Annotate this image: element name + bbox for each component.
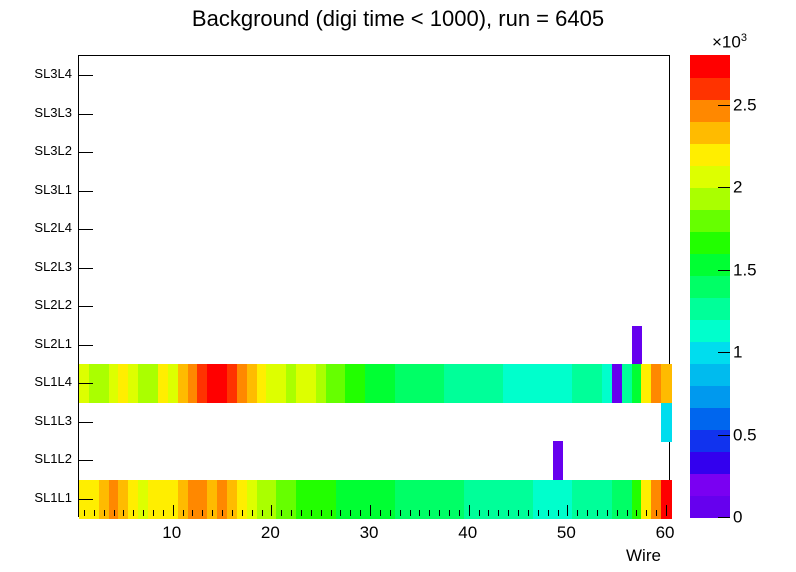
x-axis-minor-tick: [301, 510, 302, 516]
x-axis-major-tick: [469, 505, 470, 516]
x-axis-title: Wire: [626, 546, 661, 566]
x-axis-minor-tick: [488, 510, 489, 516]
y-axis-label-sl1l2: SL1L2: [4, 452, 72, 465]
palette-tick-label: 1: [733, 344, 742, 361]
y-axis-label-sl2l1: SL2L1: [4, 337, 72, 350]
heatmap-cell: [247, 364, 257, 403]
x-axis-major-tick: [370, 505, 371, 516]
color-palette-bar: [690, 55, 730, 517]
x-axis-minor-tick: [528, 510, 529, 516]
heatmap-cell: [158, 364, 168, 403]
x-axis-minor-tick: [104, 510, 105, 516]
y-axis-label-sl2l4: SL2L4: [4, 221, 72, 234]
x-axis-minor-tick: [212, 510, 213, 516]
y-axis-label-sl2l2: SL2L2: [4, 298, 72, 311]
y-axis-tick: [79, 345, 93, 346]
x-axis-minor-tick: [143, 510, 144, 516]
heatmap-cell: [622, 364, 632, 403]
heatmap-cell: [562, 364, 572, 403]
x-axis-minor-tick: [252, 510, 253, 516]
heatmap-cell: [326, 364, 336, 403]
palette-exponent-power: 3: [741, 32, 747, 44]
palette-tick-label: 0.5: [733, 426, 757, 443]
y-axis-label-sl3l1: SL3L1: [4, 183, 72, 196]
heatmap-cell: [641, 364, 651, 403]
x-axis-minor-tick: [94, 510, 95, 516]
heatmap-cells: [79, 56, 669, 516]
x-axis-minor-tick: [123, 510, 124, 516]
x-axis-major-tick: [271, 505, 272, 516]
heatmap-cell: [493, 364, 503, 403]
palette-band: [690, 495, 730, 518]
heatmap-cell: [197, 364, 207, 403]
palette-band: [690, 297, 730, 320]
heatmap-cell: [474, 364, 484, 403]
x-axis-minor-tick: [400, 510, 401, 516]
y-axis-tick: [79, 229, 93, 230]
y-axis-label-sl2l3: SL2L3: [4, 260, 72, 273]
palette-band: [690, 55, 730, 78]
x-axis-minor-tick: [192, 510, 193, 516]
x-axis-minor-tick: [242, 510, 243, 516]
heatmap-cell: [345, 364, 355, 403]
x-axis-minor-tick: [202, 510, 203, 516]
x-axis-minor-tick: [380, 510, 381, 516]
heatmap-cell: [582, 364, 592, 403]
y-axis-tick: [79, 152, 93, 153]
x-axis-minor-tick: [518, 510, 519, 516]
palette-band: [690, 143, 730, 166]
x-axis-minor-tick: [548, 510, 549, 516]
x-axis-minor-tick: [429, 510, 430, 516]
x-axis-minor-tick: [587, 510, 588, 516]
y-axis-label-sl1l1: SL1L1: [4, 491, 72, 504]
palette-tick-label: 2: [733, 179, 742, 196]
x-axis-tick-label: 40: [458, 524, 477, 541]
x-axis-minor-tick: [646, 510, 647, 516]
heatmap-cell: [217, 364, 227, 403]
palette-band: [690, 363, 730, 386]
plot-title: Background (digi time < 1000), run = 640…: [0, 6, 796, 32]
y-axis-tick: [79, 114, 93, 115]
x-axis-minor-tick: [627, 510, 628, 516]
heatmap-cell: [553, 441, 563, 480]
heatmap-cell: [395, 364, 405, 403]
palette-tick-label: 1.5: [733, 261, 757, 278]
x-axis-minor-tick: [410, 510, 411, 516]
palette-band: [690, 253, 730, 276]
x-axis-minor-tick: [558, 510, 559, 516]
palette-tick-label: 0: [733, 509, 742, 526]
palette-band: [690, 275, 730, 298]
x-axis-minor-tick: [508, 510, 509, 516]
y-axis-label-sl1l4: SL1L4: [4, 375, 72, 388]
palette-band: [690, 165, 730, 188]
x-axis-tick-label: 20: [261, 524, 280, 541]
y-axis-tick: [79, 460, 93, 461]
heatmap-cell: [138, 364, 148, 403]
heatmap-cell: [602, 364, 612, 403]
x-axis-minor-tick: [636, 510, 637, 516]
y-axis-label-sl1l3: SL1L3: [4, 414, 72, 427]
x-axis-minor-tick: [133, 510, 134, 516]
heatmap-cell: [632, 326, 642, 365]
palette-band: [690, 407, 730, 430]
heatmap-cell: [661, 364, 671, 403]
palette-exponent: ×103: [712, 32, 747, 53]
heatmap-cell: [286, 364, 296, 403]
y-axis-label-sl3l4: SL3L4: [4, 67, 72, 80]
x-axis-minor-tick: [656, 510, 657, 516]
x-axis-minor-tick: [84, 510, 85, 516]
palette-band: [690, 319, 730, 342]
palette-band: [690, 121, 730, 144]
x-axis-minor-tick: [222, 510, 223, 516]
heatmap-cell: [118, 364, 128, 403]
heatmap-cell: [178, 364, 188, 403]
x-axis-minor-tick: [232, 510, 233, 516]
x-axis-minor-tick: [439, 510, 440, 516]
x-axis-major-tick: [666, 505, 667, 516]
y-axis-tick: [79, 191, 93, 192]
x-axis-minor-tick: [311, 510, 312, 516]
x-axis-minor-tick: [163, 510, 164, 516]
x-axis-tick-label: 30: [360, 524, 379, 541]
palette-band: [690, 429, 730, 452]
x-axis-minor-tick: [360, 510, 361, 516]
palette-tick: [718, 187, 730, 188]
heatmap-cell: [306, 364, 316, 403]
palette-band: [690, 473, 730, 496]
x-axis-minor-tick: [350, 510, 351, 516]
x-axis-minor-tick: [577, 510, 578, 516]
heatmap-cell: [661, 403, 671, 442]
heatmap-cell: [543, 364, 553, 403]
x-axis-major-tick: [173, 505, 174, 516]
y-axis-label-sl3l2: SL3L2: [4, 144, 72, 157]
palette-tick: [718, 517, 730, 518]
heatmap-cell: [99, 364, 109, 403]
palette-tick: [718, 105, 730, 106]
palette-band: [690, 99, 730, 122]
heatmap-cell: [266, 364, 276, 403]
y-axis-tick: [79, 75, 93, 76]
heatmap-cell: [434, 364, 444, 403]
y-axis-tick: [79, 383, 93, 384]
x-axis-minor-tick: [479, 510, 480, 516]
palette-band: [690, 77, 730, 100]
palette-band: [690, 187, 730, 210]
x-axis-tick-label: 10: [162, 524, 181, 541]
root-canvas: Background (digi time < 1000), run = 640…: [0, 0, 796, 572]
heatmap-cell: [513, 364, 523, 403]
x-axis-tick-label: 60: [656, 524, 675, 541]
y-axis-tick: [79, 306, 93, 307]
x-axis-minor-tick: [340, 510, 341, 516]
x-axis-minor-tick: [153, 510, 154, 516]
x-axis-minor-tick: [607, 510, 608, 516]
x-axis-minor-tick: [291, 510, 292, 516]
palette-band: [690, 451, 730, 474]
x-axis-minor-tick: [331, 510, 332, 516]
palette-tick: [718, 352, 730, 353]
palette-band: [690, 231, 730, 254]
x-axis-tick-label: 50: [557, 524, 576, 541]
x-axis-minor-tick: [459, 510, 460, 516]
y-axis-tick: [79, 499, 93, 500]
heatmap-cell: [414, 364, 424, 403]
y-axis-tick: [79, 422, 93, 423]
palette-exponent-base: ×10: [712, 33, 741, 52]
y-axis-tick: [79, 268, 93, 269]
x-axis-minor-tick: [419, 510, 420, 516]
x-axis-minor-tick: [262, 510, 263, 516]
x-axis-minor-tick: [114, 510, 115, 516]
x-axis-major-tick: [567, 505, 568, 516]
x-axis-minor-tick: [390, 510, 391, 516]
x-axis-minor-tick: [617, 510, 618, 516]
palette-tick: [718, 270, 730, 271]
heatmap-cell: [365, 364, 375, 403]
palette-band: [690, 209, 730, 232]
x-axis-minor-tick: [597, 510, 598, 516]
palette-tick: [718, 435, 730, 436]
y-axis-label-sl3l3: SL3L3: [4, 106, 72, 119]
x-axis-minor-tick: [449, 510, 450, 516]
plot-frame: [78, 55, 670, 517]
palette-tick-label: 2.5: [733, 96, 757, 113]
x-axis-minor-tick: [538, 510, 539, 516]
heatmap-cell: [454, 364, 464, 403]
x-axis-minor-tick: [281, 510, 282, 516]
x-axis-minor-tick: [321, 510, 322, 516]
x-axis-minor-tick: [498, 510, 499, 516]
x-axis-minor-tick: [183, 510, 184, 516]
palette-band: [690, 385, 730, 408]
